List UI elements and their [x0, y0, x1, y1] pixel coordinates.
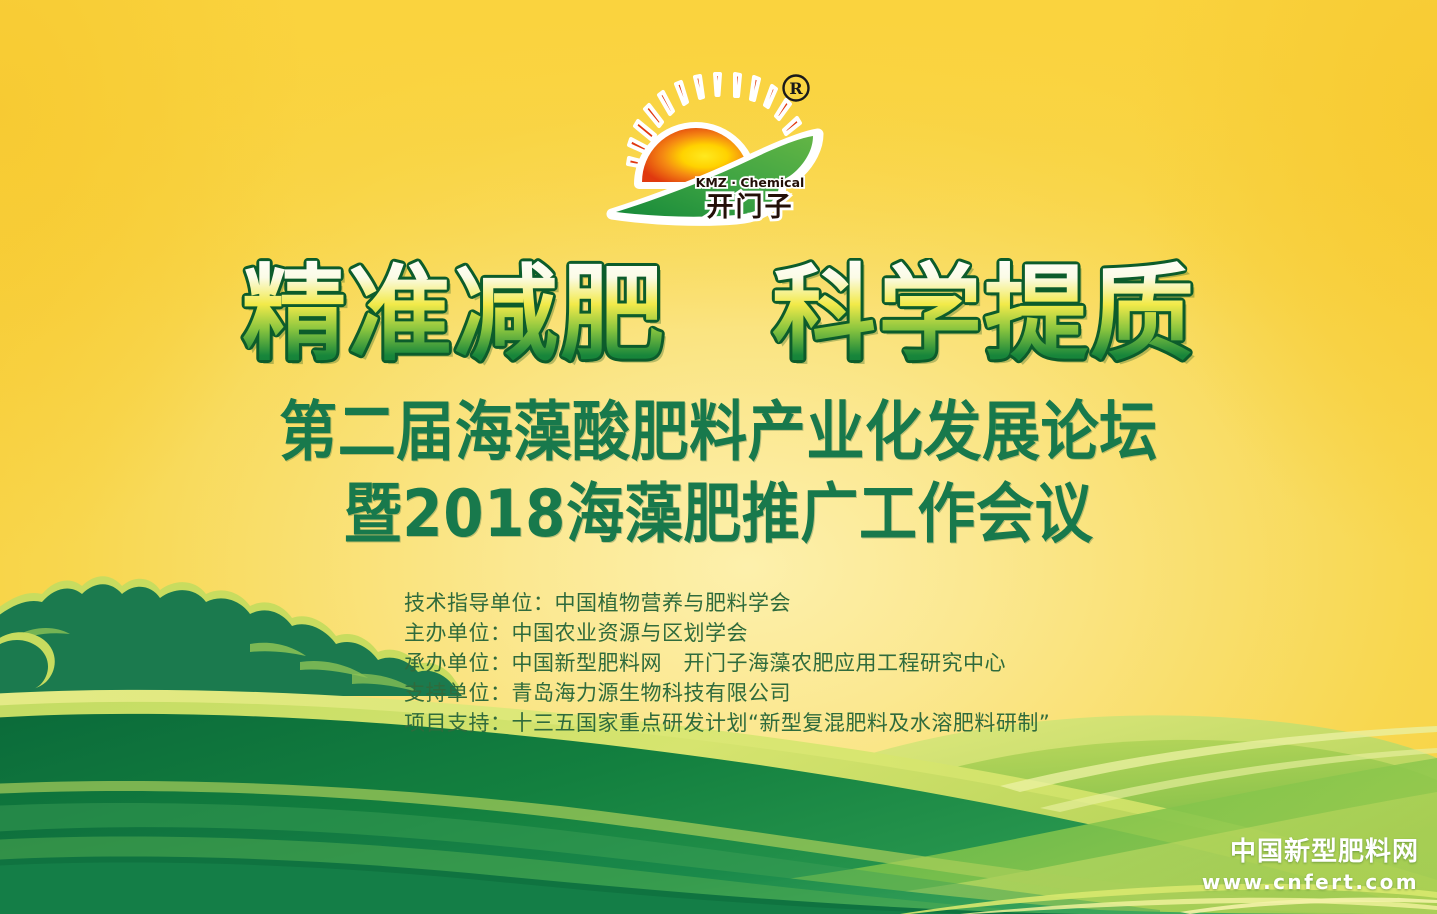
svg-text:R: R — [789, 79, 803, 98]
svg-text:KMZ · Chemical: KMZ · Chemical — [695, 175, 804, 190]
svg-text:精准减肥 科学提质: 精准减肥 科学提质 — [241, 258, 1195, 375]
watermark-site-name: 中国新型肥料网 — [1202, 839, 1419, 865]
subtitle-container: 第二届海藻酸肥料产业化发展论坛 暨2018海藻肥推广工作会议 — [0, 398, 1437, 541]
svg-text:开门子: 开门子 — [706, 192, 793, 223]
registered-trademark-icon: R — [783, 76, 808, 101]
watermark-url: www.cnfert.com — [1202, 872, 1419, 892]
info-line-project-support: 项目支持：十三五国家重点研发计划“新型复混肥料及水溶肥料研制” — [404, 708, 1164, 738]
subtitle-line-1: 第二届海藻酸肥料产业化发展论坛 — [0, 398, 1437, 466]
site-watermark: 中国新型肥料网 www.cnfert.com — [1202, 839, 1419, 892]
info-line-support: 支持单位：青岛海力源生物科技有限公司 — [404, 678, 1164, 708]
main-headline: 精准减肥 科学提质 精准减肥 科学提质 — [189, 258, 1249, 378]
organizer-info-block: 技术指导单位：中国植物营养与肥料学会 主办单位：中国农业资源与区划学会 承办单位… — [404, 588, 1164, 738]
event-poster: R KMZ · Chemical KMZ · Chemical 开门子 开门子 — [0, 0, 1437, 914]
kmz-chemical-logo: R KMZ · Chemical KMZ · Chemical 开门子 开门子 — [604, 62, 834, 242]
headline-container: 精准减肥 科学提质 精准减肥 科学提质 — [0, 258, 1437, 382]
logo-container: R KMZ · Chemical KMZ · Chemical 开门子 开门子 — [0, 62, 1437, 242]
info-line-technical-guidance: 技术指导单位：中国植物营养与肥料学会 — [404, 588, 1164, 618]
subtitle-line-2: 暨2018海藻肥推广工作会议 — [0, 480, 1437, 548]
info-line-host: 主办单位：中国农业资源与区划学会 — [404, 618, 1164, 648]
logo-brand-cn: 开门子 开门子 — [706, 192, 793, 223]
logo-brand-latin: KMZ · Chemical KMZ · Chemical — [695, 175, 804, 190]
info-line-organizer: 承办单位：中国新型肥料网 开门子海藻农肥应用工程研究中心 — [404, 648, 1164, 678]
